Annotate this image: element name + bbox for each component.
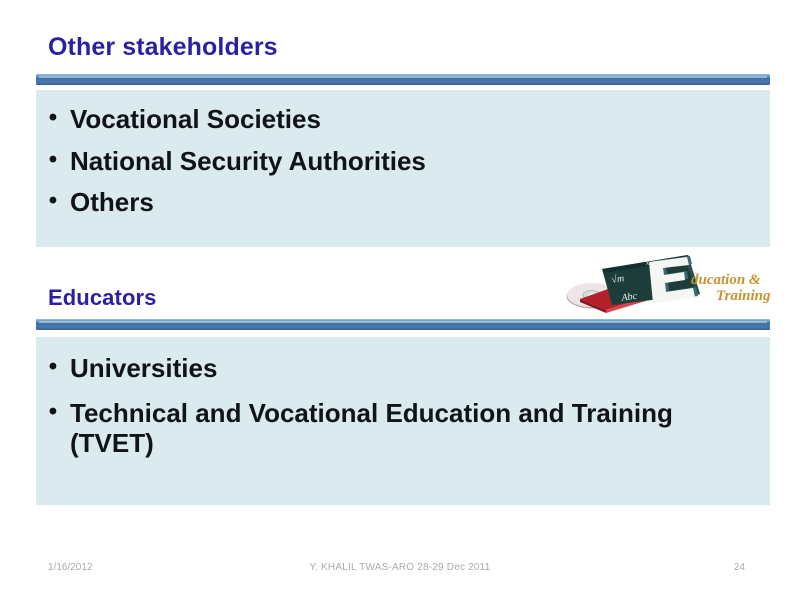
- logo-script-line2: Training: [716, 288, 771, 304]
- accent-divider-bottom: [36, 319, 770, 330]
- slide-page-number: 24: [734, 562, 745, 573]
- list-item: • Others: [36, 187, 770, 229]
- bullet-dot-icon: •: [36, 104, 70, 133]
- svg-text:√m: √m: [611, 273, 625, 286]
- accent-divider-top: [36, 74, 770, 85]
- list-item: • Technical and Vocational Education and…: [36, 398, 770, 473]
- bullet-dot-icon: •: [36, 146, 70, 175]
- education-logo-graphic: √m Abc x ducation & Training: [566, 252, 774, 314]
- bullet-list-educators: • Universities • Technical and Vocationa…: [36, 337, 770, 473]
- bullet-dot-icon: •: [36, 187, 70, 216]
- logo-script-line1: ducation &: [691, 272, 761, 288]
- bullet-dot-icon: •: [36, 398, 70, 427]
- footer-attribution: Y. KHALIL TWAS-ARO 28-29 Dec 2011: [0, 562, 800, 573]
- list-item: • National Security Authorities: [36, 146, 770, 188]
- list-item: • Universities: [36, 353, 770, 398]
- bullet-list-stakeholders: • Vocational Societies • National Securi…: [36, 90, 770, 229]
- list-item-label: Others: [70, 187, 770, 218]
- list-item-label: National Security Authorities: [70, 146, 770, 177]
- list-item: • Vocational Societies: [36, 104, 770, 146]
- list-item-label: Technical and Vocational Education and T…: [70, 398, 770, 459]
- education-and-training-logo: √m Abc x ducation & Training: [566, 252, 774, 314]
- list-item-label: Vocational Societies: [70, 104, 770, 135]
- section-heading-educators: Educators: [48, 285, 156, 311]
- slide: Other stakeholders • Vocational Societie…: [0, 0, 800, 600]
- list-item-label: Universities: [70, 353, 770, 384]
- slide-footer: 1/16/2012 Y. KHALIL TWAS-ARO 28-29 Dec 2…: [0, 562, 800, 582]
- content-panel-stakeholders: • Vocational Societies • National Securi…: [36, 90, 770, 247]
- content-panel-educators: • Universities • Technical and Vocationa…: [36, 337, 770, 505]
- bullet-dot-icon: •: [36, 353, 70, 382]
- page-title: Other stakeholders: [48, 33, 278, 62]
